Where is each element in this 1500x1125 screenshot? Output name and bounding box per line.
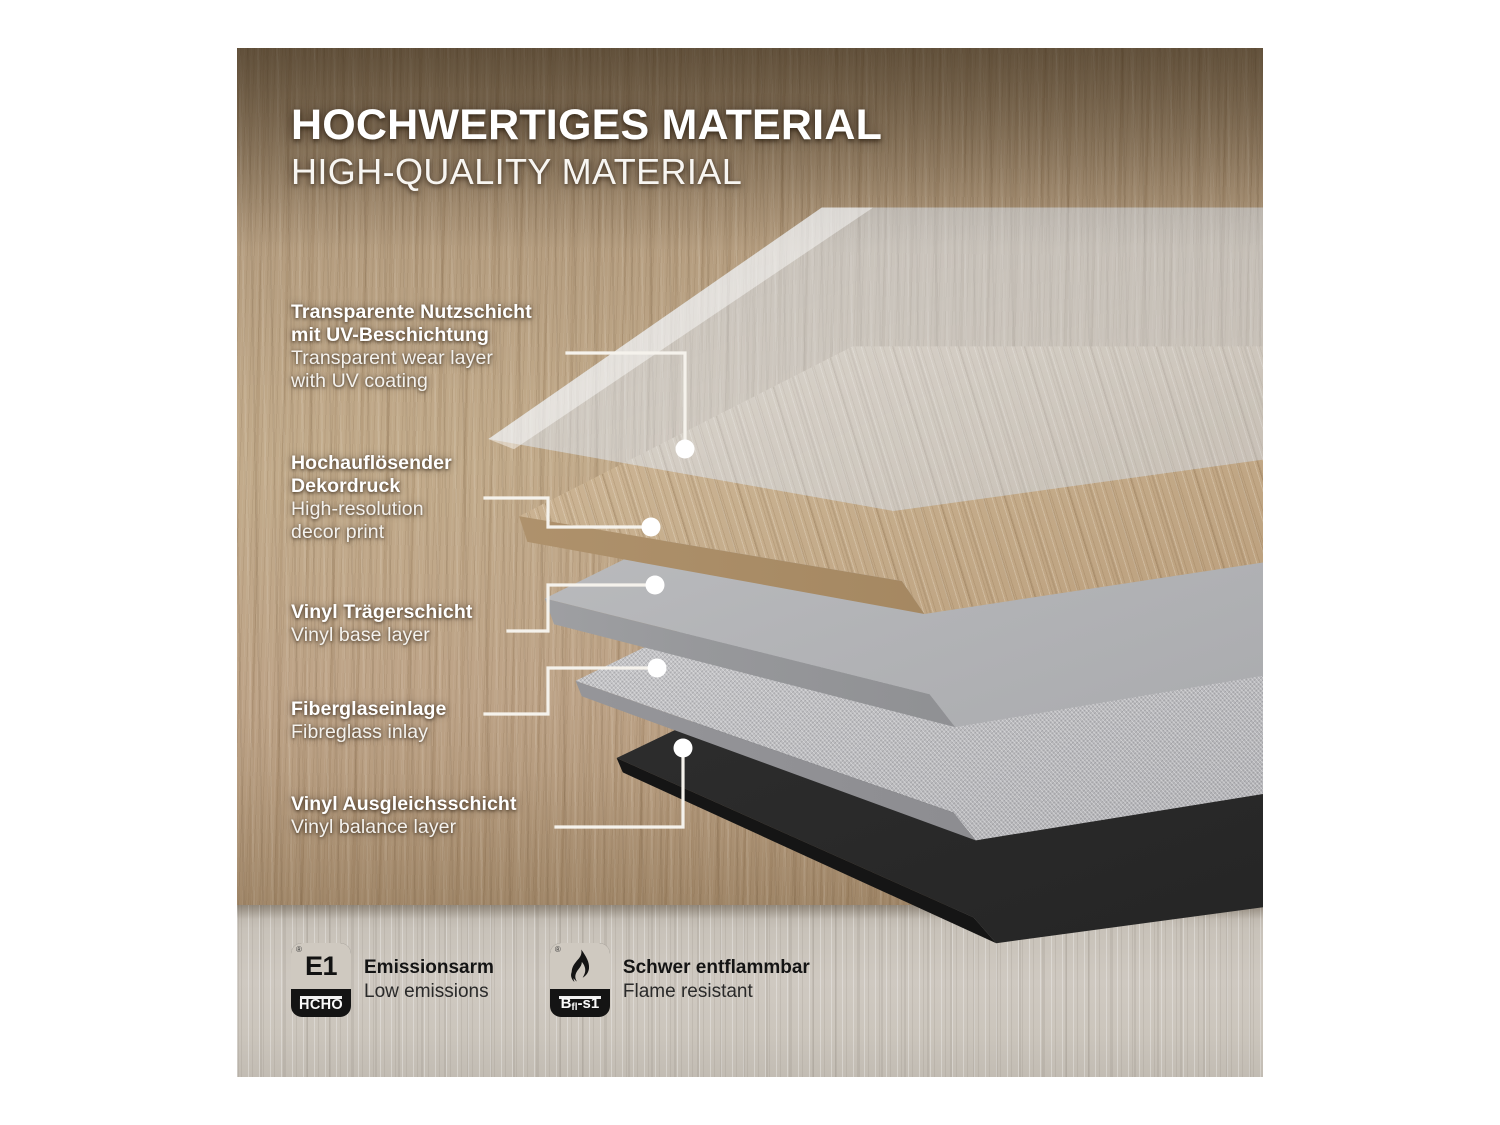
- callout-wear-layer: Transparente Nutzschicht mit UV-Beschich…: [291, 301, 532, 393]
- badge-e1-en: Low emissions: [364, 980, 494, 1004]
- badge-flame-text: Schwer entflammbar Flame resistant: [623, 956, 810, 1004]
- callout-fibreglass-en: Fibreglass inlay: [291, 721, 447, 744]
- callout-decor-print: Hochauflösender Dekordruck High-resoluti…: [291, 452, 452, 544]
- callout-balance-layer: Vinyl Ausgleichsschicht Vinyl balance la…: [291, 793, 517, 839]
- bfl-s1-suffix: -s1: [578, 995, 600, 1012]
- registered-mark-icon: ®: [296, 946, 302, 954]
- callout-wear-layer-de-line2: mit UV-Beschichtung: [291, 324, 532, 347]
- badge-flame-de: Schwer entflammbar: [623, 956, 810, 980]
- bfl-s1-label: Bfl-s1: [550, 995, 610, 1013]
- e1-hcho-icon: E1 ® HCHO: [291, 943, 351, 1017]
- page-title: HOCHWERTIGES MATERIAL HIGH-QUALITY MATER…: [291, 103, 882, 190]
- callout-decor-print-de-line1: Hochauflösender: [291, 452, 452, 475]
- callout-vinyl-base-en: Vinyl base layer: [291, 624, 472, 647]
- callout-wear-layer-en-line2: with UV coating: [291, 370, 532, 393]
- title-german: HOCHWERTIGES MATERIAL: [291, 103, 882, 148]
- callout-balance-layer-en: Vinyl balance layer: [291, 816, 517, 839]
- callout-wear-layer-en-line1: Transparent wear layer: [291, 347, 532, 370]
- registered-mark-icon: ®: [555, 946, 561, 954]
- flame-icon: [563, 948, 597, 988]
- callout-balance-layer-de: Vinyl Ausgleichsschicht: [291, 793, 517, 816]
- certification-badges: E1 ® HCHO Emissionsarm Low emissions: [291, 943, 810, 1017]
- callout-fibreglass-inlay: Fiberglaseinlage Fibreglass inlay: [291, 698, 447, 744]
- badge-e1-hcho: E1 ® HCHO Emissionsarm Low emissions: [291, 943, 494, 1017]
- callout-vinyl-base-de: Vinyl Trägerschicht: [291, 601, 472, 624]
- callout-decor-print-en-line1: High-resolution: [291, 498, 452, 521]
- badge-e1-de: Emissionsarm: [364, 956, 494, 980]
- product-infographic: HOCHWERTIGES MATERIAL HIGH-QUALITY MATER…: [237, 48, 1263, 1077]
- callout-fibreglass-de: Fiberglaseinlage: [291, 698, 447, 721]
- callout-decor-print-de-line2: Dekordruck: [291, 475, 452, 498]
- callout-vinyl-base: Vinyl Trägerschicht Vinyl base layer: [291, 601, 472, 647]
- page-root: HOCHWERTIGES MATERIAL HIGH-QUALITY MATER…: [0, 0, 1500, 1125]
- flame-bfl-s1-icon: ® Bfl-s1: [550, 943, 610, 1017]
- hcho-label: HCHO: [291, 997, 351, 1013]
- badge-flame-resistant: ® Bfl-s1 Schwer entflammbar Flame resist…: [550, 943, 810, 1017]
- bfl-s1-prefix: B: [561, 995, 572, 1012]
- badge-flame-en: Flame resistant: [623, 980, 810, 1004]
- exploded-layer-stack: [237, 48, 1263, 1077]
- callout-wear-layer-de-line1: Transparente Nutzschicht: [291, 301, 532, 324]
- callout-decor-print-en-line2: decor print: [291, 521, 452, 544]
- badge-e1-text: Emissionsarm Low emissions: [364, 956, 494, 1004]
- e1-label: E1: [305, 953, 337, 980]
- title-english: HIGH-QUALITY MATERIAL: [291, 153, 882, 190]
